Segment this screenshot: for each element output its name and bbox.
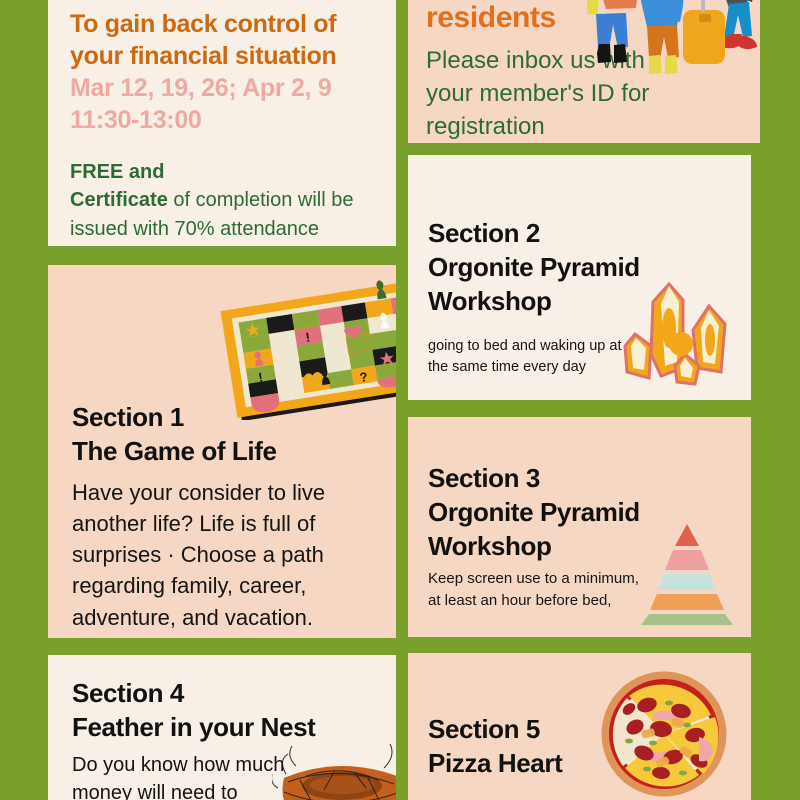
section-card-1: ! ! ? ? Section 1 The: [48, 265, 396, 638]
residents-info-card: residents Please inbox us with your memb…: [408, 0, 760, 143]
striped-pyramid-illustration: [637, 522, 737, 627]
section3-number: Section 3: [428, 417, 731, 496]
section2-number: Section 2: [428, 155, 731, 251]
finance-date-line2: 11:30-13:00: [70, 104, 374, 136]
section1-body: Have your consider to live another life?…: [72, 469, 372, 633]
residents-body-line1: Please inbox us with: [426, 36, 742, 77]
residents-body-line3: registration: [426, 110, 742, 143]
finance-info-card: To gain back control of your financial s…: [48, 0, 396, 246]
pizza-illustration: [599, 669, 729, 799]
finance-note-certificate: Certificate: [70, 189, 168, 211]
finance-heading-line1: To gain back control of: [70, 0, 374, 40]
section-card-4: Section 4 Feather in your Nest Do you kn…: [48, 655, 396, 800]
section-card-3: Section 3 Orgonite Pyramid Workshop Keep…: [408, 417, 751, 637]
finance-note-free: FREE and: [70, 161, 164, 183]
residents-body-line2: your member's ID for: [426, 77, 742, 110]
section1-title: The Game of Life: [72, 435, 372, 469]
section4-number: Section 4: [72, 655, 372, 711]
finance-heading-line2: your financial situation: [70, 40, 374, 72]
section-card-5: Section 5 Pizza Heart: [408, 653, 751, 800]
finance-note: FREE andCertificate of completion will b…: [70, 136, 374, 243]
residents-heading: residents: [426, 0, 742, 36]
orange-crystals-illustration: [621, 276, 741, 386]
birds-nest-illustration: [272, 732, 396, 800]
board-game-illustration: ! ! ? ?: [208, 280, 396, 420]
finance-date-line1: Mar 12, 19, 26; Apr 2, 9: [70, 72, 374, 104]
section-card-2: Section 2 Orgonite Pyramid Workshop goin…: [408, 155, 751, 400]
poster-canvas: To gain back control of your financial s…: [0, 0, 800, 800]
